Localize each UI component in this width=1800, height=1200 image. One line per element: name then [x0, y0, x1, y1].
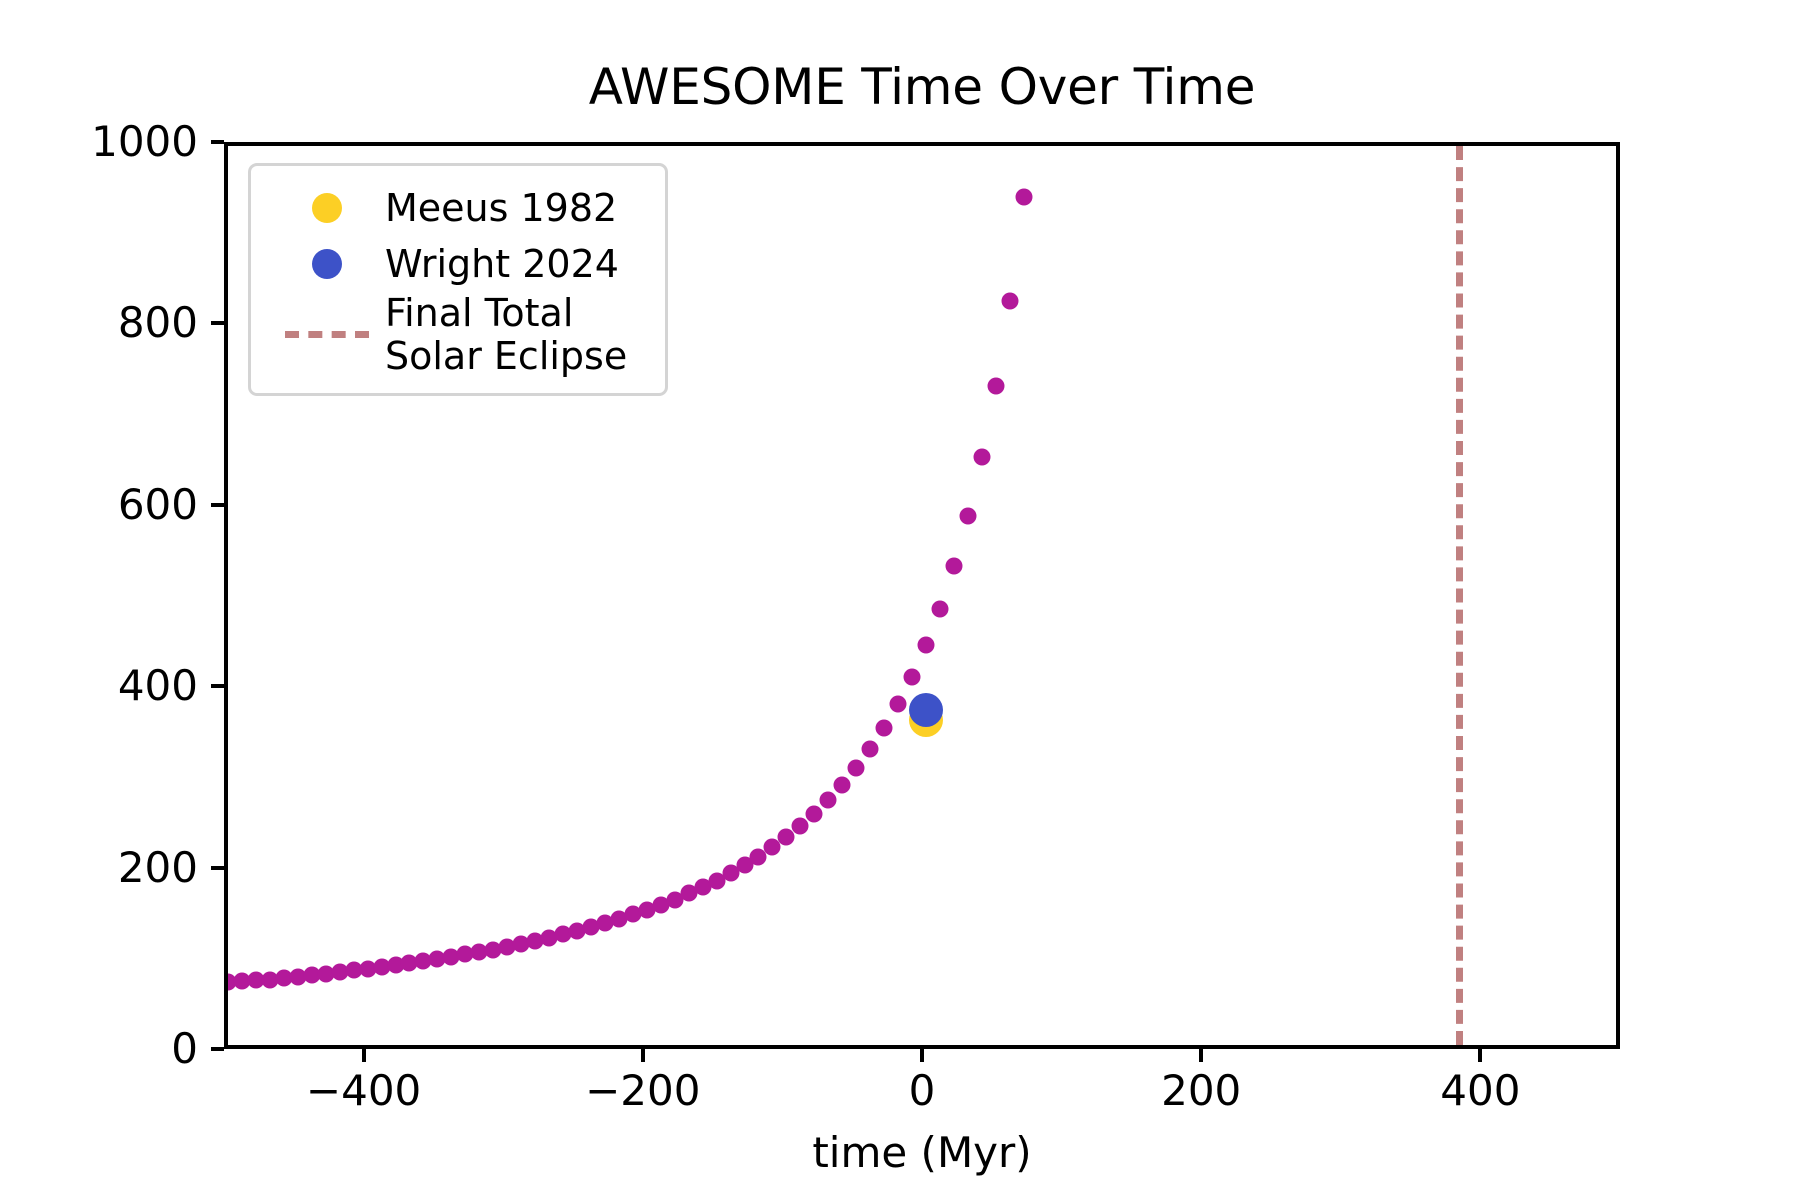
- x-axis-label: time (Myr): [224, 1128, 1620, 1177]
- legend-label: Meeus 1982: [381, 187, 617, 230]
- legend-entry: Meeus 1982: [273, 180, 643, 236]
- x-tick-label: −200: [523, 1066, 763, 1115]
- y-tick-label: 400: [0, 661, 198, 711]
- data-point: [848, 760, 865, 777]
- data-point: [1001, 293, 1018, 310]
- legend-key-line: [273, 331, 381, 338]
- figure-canvas: AWESOME Time Over Time −400−2000200400 0…: [0, 0, 1800, 1200]
- data-point: [1015, 188, 1032, 205]
- y-tick-mark: [211, 140, 224, 144]
- legend-key-marker: [273, 249, 381, 279]
- data-point: [987, 378, 1004, 395]
- x-tick-label: 400: [1360, 1066, 1600, 1115]
- y-tick-label: 0: [0, 1024, 198, 1074]
- legend-label: Wright 2024: [381, 243, 619, 286]
- y-tick-mark: [211, 321, 224, 325]
- data-point: [792, 818, 809, 835]
- y-tick-mark: [211, 1047, 224, 1051]
- data-point: [918, 636, 935, 653]
- data-point: [945, 557, 962, 574]
- y-tick-mark: [211, 866, 224, 870]
- legend-label: Final Total Solar Eclipse: [381, 292, 627, 377]
- legend-dot-icon: [312, 249, 342, 279]
- data-point: [973, 449, 990, 466]
- data-point: [876, 720, 893, 737]
- x-tick-mark: [641, 1049, 645, 1062]
- legend-entry: Final Total Solar Eclipse: [273, 292, 643, 377]
- data-point: [909, 693, 943, 727]
- x-tick-mark: [1478, 1049, 1482, 1062]
- legend: Meeus 1982Wright 2024Final Total Solar E…: [248, 163, 668, 396]
- data-point: [862, 741, 879, 758]
- x-tick-label: −400: [244, 1066, 484, 1115]
- x-tick-mark: [920, 1049, 924, 1062]
- data-point: [834, 777, 851, 794]
- chart-title: AWESOME Time Over Time: [224, 58, 1620, 116]
- legend-key-marker: [273, 193, 381, 223]
- data-point: [890, 695, 907, 712]
- y-tick-mark: [211, 684, 224, 688]
- data-point: [778, 829, 795, 846]
- data-point: [820, 791, 837, 808]
- final-total-solar-eclipse-line: [1456, 146, 1463, 1045]
- data-point: [931, 600, 948, 617]
- legend-dashed-line-icon: [285, 331, 369, 338]
- x-tick-label: 0: [802, 1066, 1042, 1115]
- data-point: [806, 805, 823, 822]
- x-tick-mark: [1199, 1049, 1203, 1062]
- y-tick-label: 1000: [0, 117, 198, 167]
- y-tick-label: 200: [0, 843, 198, 893]
- y-tick-mark: [211, 503, 224, 507]
- x-tick-mark: [362, 1049, 366, 1062]
- data-point: [904, 668, 921, 685]
- legend-dot-icon: [312, 193, 342, 223]
- y-tick-label: 600: [0, 480, 198, 530]
- data-point: [959, 508, 976, 525]
- x-tick-label: 200: [1081, 1066, 1321, 1115]
- y-tick-label: 800: [0, 298, 198, 348]
- legend-entry: Wright 2024: [273, 236, 643, 292]
